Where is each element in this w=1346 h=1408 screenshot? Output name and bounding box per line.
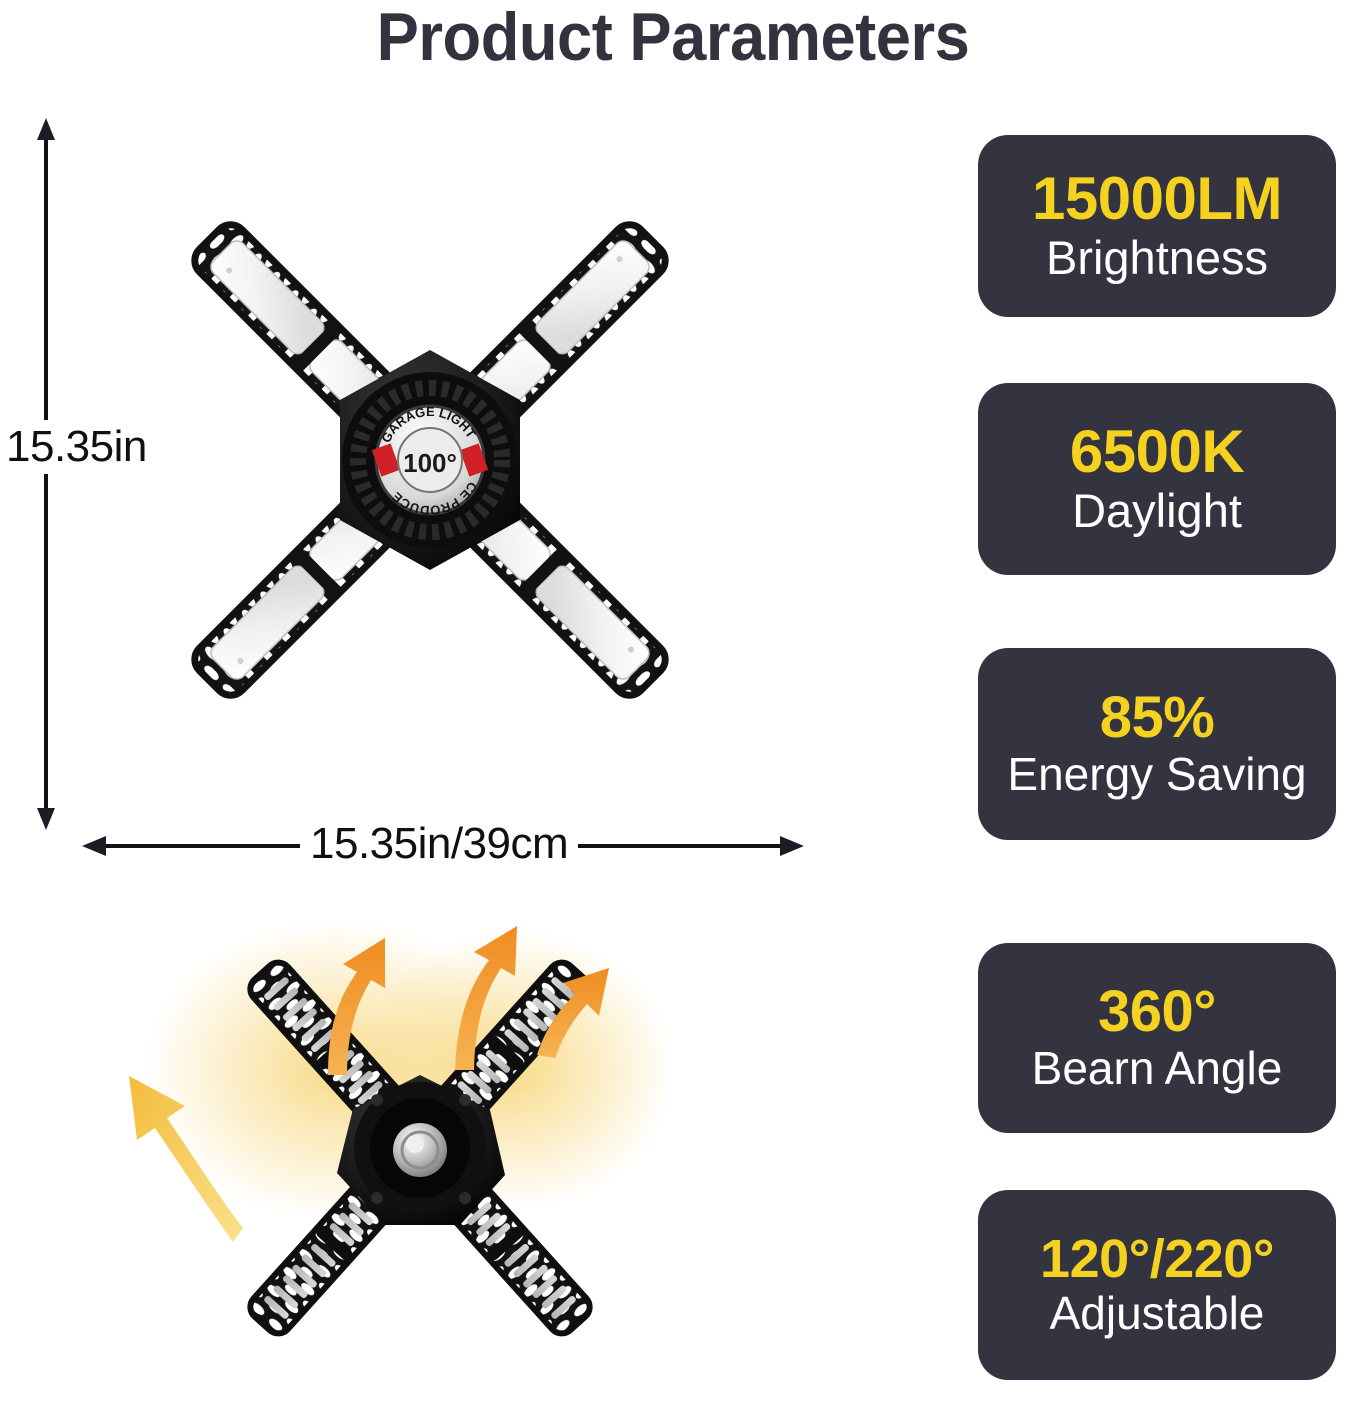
parameter-label: Energy Saving <box>1007 750 1306 800</box>
parameter-label: Brightness <box>1046 233 1268 284</box>
page-title: Product Parameters <box>47 2 1299 73</box>
parameter-card-beam-angle: 360° Bearn Angle <box>978 943 1336 1133</box>
parameter-label: Adjustable <box>1050 1289 1265 1339</box>
parameter-card-energy-saving: 85% Energy Saving <box>978 648 1336 840</box>
parameter-value: 15000LM <box>1032 168 1282 230</box>
parameter-label: Daylight <box>1072 486 1242 537</box>
product-image-top-view: 100° GARAGE LIGHT CE PRODUCE <box>70 110 790 820</box>
dimension-height-arrow <box>28 118 64 830</box>
parameter-card-color-temperature: 6500K Daylight <box>978 383 1336 575</box>
product-bottom-svg <box>85 890 755 1395</box>
parameter-card-adjustable: 120°/220° Adjustable <box>978 1190 1336 1380</box>
parameter-value: 120°/220° <box>1040 1231 1274 1287</box>
product-top-svg: 100° GARAGE LIGHT CE PRODUCE <box>70 110 790 820</box>
product-image-bottom-view <box>85 890 755 1395</box>
dimension-height-label: 15.35in <box>2 420 151 474</box>
parameter-value: 360° <box>1098 982 1216 1042</box>
parameter-card-brightness: 15000LM Brightness <box>978 135 1336 317</box>
hub-badge-center-text: 100° <box>403 448 457 478</box>
parameter-value: 6500K <box>1070 421 1244 483</box>
dimension-width-label: 15.35in/39cm <box>300 818 578 870</box>
parameter-label: Bearn Angle <box>1032 1044 1283 1094</box>
parameter-value: 85% <box>1100 688 1215 748</box>
dimension-height-svg <box>28 118 64 830</box>
